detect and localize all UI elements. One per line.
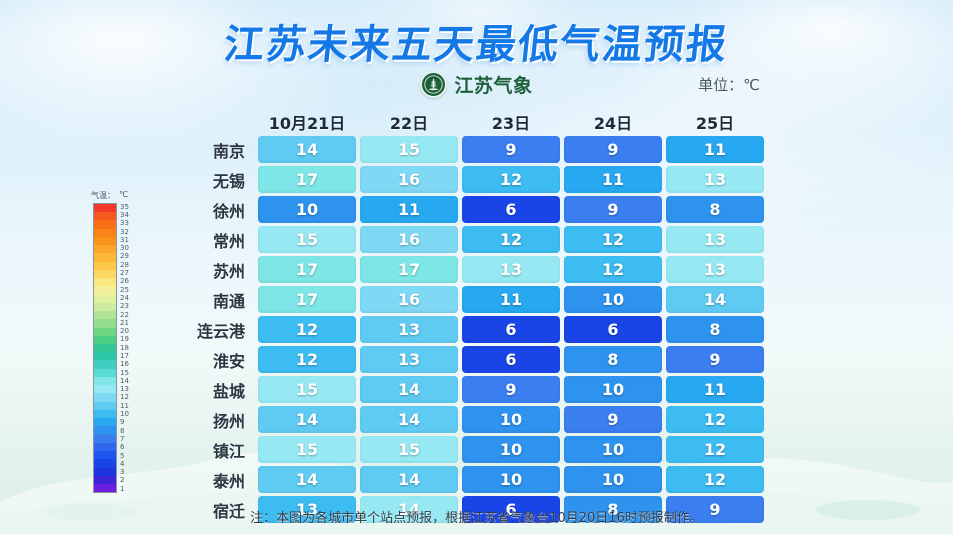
temperature-cell: 17 — [258, 256, 356, 283]
legend-swatch — [94, 278, 116, 286]
temperature-cell: 14 — [360, 406, 458, 433]
temperature-cell: 13 — [360, 346, 458, 373]
page-title: 江苏未来五天最低气温预报 — [0, 12, 953, 70]
legend-swatch — [94, 369, 116, 377]
temperature-cell: 14 — [360, 466, 458, 493]
legend-swatch — [94, 295, 116, 303]
temperature-cell: 9 — [564, 406, 662, 433]
temperature-cell: 12 — [258, 346, 356, 373]
legend-title-text: 气温： — [91, 190, 115, 201]
temperature-cell: 10 — [564, 466, 662, 493]
legend-tick: 29 — [120, 253, 129, 261]
city-label: 镇江 — [172, 438, 254, 462]
temperature-cell: 11 — [462, 286, 560, 313]
temperature-cell: 16 — [360, 226, 458, 253]
table-row: 苏州1717131213 — [172, 256, 764, 283]
brand-logo: 江苏气象 — [0, 69, 953, 99]
temperature-cell: 10 — [564, 286, 662, 313]
temperature-cell: 15 — [258, 376, 356, 403]
temperature-cell: 6 — [462, 346, 560, 373]
legend-swatch — [94, 360, 116, 368]
legend-swatch — [94, 476, 116, 484]
temperature-cell: 12 — [462, 166, 560, 193]
unit-label: 单位：℃ — [698, 74, 760, 95]
legend-swatch — [94, 377, 116, 385]
temperature-cell: 17 — [258, 166, 356, 193]
temperature-cell: 10 — [564, 436, 662, 463]
legend-tick: 6 — [120, 444, 129, 452]
legend-swatch — [94, 352, 116, 360]
legend-tick: 16 — [120, 361, 129, 369]
legend-swatch — [94, 393, 116, 401]
temperature-cell: 10 — [258, 196, 356, 223]
temperature-cell: 9 — [564, 196, 662, 223]
brand-name: 江苏气象 — [454, 71, 532, 98]
city-label: 无锡 — [172, 168, 254, 192]
legend-tick: 5 — [120, 452, 129, 460]
temperature-cell: 10 — [462, 436, 560, 463]
footer-note: 注：本图为各城市单个站点预报，根据江苏省气象台10月20日16时预报制作。 — [0, 507, 953, 526]
legend-swatch — [94, 344, 116, 352]
legend-swatch — [94, 245, 116, 253]
legend-tick: 23 — [120, 303, 129, 311]
legend-tick: 15 — [120, 369, 129, 377]
legend-swatch — [94, 270, 116, 278]
legend-swatch — [94, 459, 116, 467]
legend-tick: 19 — [120, 336, 129, 344]
legend-swatch — [94, 311, 116, 319]
temperature-cell: 12 — [666, 406, 764, 433]
temperature-cell: 15 — [360, 436, 458, 463]
temperature-cell: 8 — [564, 346, 662, 373]
legend-title: 气温： ℃ — [91, 190, 141, 201]
temperature-cell: 13 — [462, 256, 560, 283]
temperature-cell: 17 — [258, 286, 356, 313]
temperature-cell: 8 — [666, 316, 764, 343]
table-row: 无锡1716121113 — [172, 166, 764, 193]
legend-tick: 2 — [120, 477, 129, 485]
legend-tick: 32 — [120, 228, 129, 236]
legend-swatch — [94, 262, 116, 270]
jiangsu-meteorological-emblem-icon — [420, 71, 447, 98]
legend-swatch — [94, 435, 116, 443]
temperature-cell: 15 — [258, 226, 356, 253]
legend-swatch — [94, 229, 116, 237]
temperature-cell: 11 — [360, 196, 458, 223]
legend-tick: 33 — [120, 220, 129, 228]
temperature-cell: 12 — [462, 226, 560, 253]
temperature-cell: 16 — [360, 286, 458, 313]
legend-swatch — [94, 443, 116, 451]
temperature-cell: 16 — [360, 166, 458, 193]
temperature-cell: 6 — [462, 316, 560, 343]
table-body: 南京14159911无锡1716121113徐州1011698常州1516121… — [172, 136, 764, 523]
temperature-cell: 14 — [360, 376, 458, 403]
table-row: 常州1516121213 — [172, 226, 764, 253]
legend-tick: 26 — [120, 278, 129, 286]
legend-tick: 22 — [120, 311, 129, 319]
table-row: 南通1716111014 — [172, 286, 764, 313]
table-row: 连云港1213668 — [172, 316, 764, 343]
legend-swatch — [94, 328, 116, 336]
weather-forecast-infographic: 江苏未来五天最低气温预报 江苏气象 单位：℃ 气温： ℃ 35343332313… — [0, 0, 953, 534]
temperature-cell: 11 — [666, 376, 764, 403]
legend-swatch — [94, 468, 116, 476]
legend-swatch — [94, 484, 116, 492]
legend-swatch — [94, 220, 116, 228]
temperature-cell: 12 — [564, 256, 662, 283]
temperature-cell: 10 — [564, 376, 662, 403]
legend-tick-labels: 3534333231302928272625242322212019181716… — [120, 203, 129, 493]
temperature-cell: 14 — [258, 406, 356, 433]
legend-swatch — [94, 253, 116, 261]
temperature-cell: 10 — [462, 466, 560, 493]
city-label: 盐城 — [172, 378, 254, 402]
city-label: 连云港 — [172, 318, 254, 342]
table-header-row: 10月21日22日23日24日25日 — [172, 108, 764, 136]
temperature-cell: 11 — [666, 136, 764, 163]
legend-swatch — [94, 204, 116, 212]
column-header-1: 10月21日 — [258, 110, 356, 134]
table-row: 南京14159911 — [172, 136, 764, 163]
legend-swatch — [94, 212, 116, 220]
temperature-cell: 6 — [462, 196, 560, 223]
table-row: 扬州141410912 — [172, 406, 764, 433]
city-label: 苏州 — [172, 258, 254, 282]
city-label: 徐州 — [172, 198, 254, 222]
legend-tick: 9 — [120, 419, 129, 427]
forecast-table: 10月21日22日23日24日25日 南京14159911无锡171612111… — [172, 108, 764, 526]
temperature-cell: 6 — [564, 316, 662, 343]
temperature-cell: 13 — [666, 166, 764, 193]
legend-swatch — [94, 319, 116, 327]
column-header-3: 23日 — [462, 110, 560, 134]
city-label: 南京 — [172, 138, 254, 162]
temperature-cell: 13 — [666, 256, 764, 283]
column-header-2: 22日 — [360, 110, 458, 134]
legend-tick: 1 — [120, 485, 129, 493]
temperature-cell: 15 — [360, 136, 458, 163]
table-row: 泰州1414101012 — [172, 466, 764, 493]
temperature-cell: 14 — [258, 466, 356, 493]
table-row: 淮安1213689 — [172, 346, 764, 373]
temperature-cell: 13 — [666, 226, 764, 253]
temperature-cell: 12 — [564, 226, 662, 253]
city-label: 淮安 — [172, 348, 254, 372]
legend-swatch — [94, 426, 116, 434]
city-label: 南通 — [172, 288, 254, 312]
legend-body: 3534333231302928272625242322212019181716… — [93, 203, 141, 493]
legend-color-bar — [93, 203, 117, 493]
temperature-cell: 9 — [666, 346, 764, 373]
legend-swatch — [94, 336, 116, 344]
table-row: 盐城151491011 — [172, 376, 764, 403]
temperature-cell: 12 — [666, 436, 764, 463]
temperature-cell: 9 — [462, 136, 560, 163]
temperature-cell: 11 — [564, 166, 662, 193]
temperature-cell: 13 — [360, 316, 458, 343]
city-label: 扬州 — [172, 408, 254, 432]
temperature-cell: 10 — [462, 406, 560, 433]
temperature-cell: 17 — [360, 256, 458, 283]
legend-unit-text: ℃ — [119, 190, 128, 201]
temperature-cell: 14 — [258, 136, 356, 163]
legend-swatch — [94, 286, 116, 294]
legend-swatch — [94, 410, 116, 418]
legend-swatch — [94, 385, 116, 393]
temperature-color-legend: 气温： ℃ 3534333231302928272625242322212019… — [93, 190, 141, 493]
table-row: 镇江1515101012 — [172, 436, 764, 463]
city-label: 常州 — [172, 228, 254, 252]
temperature-cell: 12 — [666, 466, 764, 493]
legend-swatch — [94, 451, 116, 459]
temperature-cell: 15 — [258, 436, 356, 463]
legend-swatch — [94, 418, 116, 426]
table-row: 徐州1011698 — [172, 196, 764, 223]
legend-tick: 12 — [120, 394, 129, 402]
column-header-5: 25日 — [666, 110, 764, 134]
city-label: 泰州 — [172, 468, 254, 492]
temperature-cell: 8 — [666, 196, 764, 223]
column-header-4: 24日 — [564, 110, 662, 134]
legend-swatch — [94, 237, 116, 245]
temperature-cell: 9 — [462, 376, 560, 403]
temperature-cell: 9 — [564, 136, 662, 163]
temperature-cell: 12 — [258, 316, 356, 343]
legend-swatch — [94, 303, 116, 311]
temperature-cell: 14 — [666, 286, 764, 313]
legend-swatch — [94, 402, 116, 410]
